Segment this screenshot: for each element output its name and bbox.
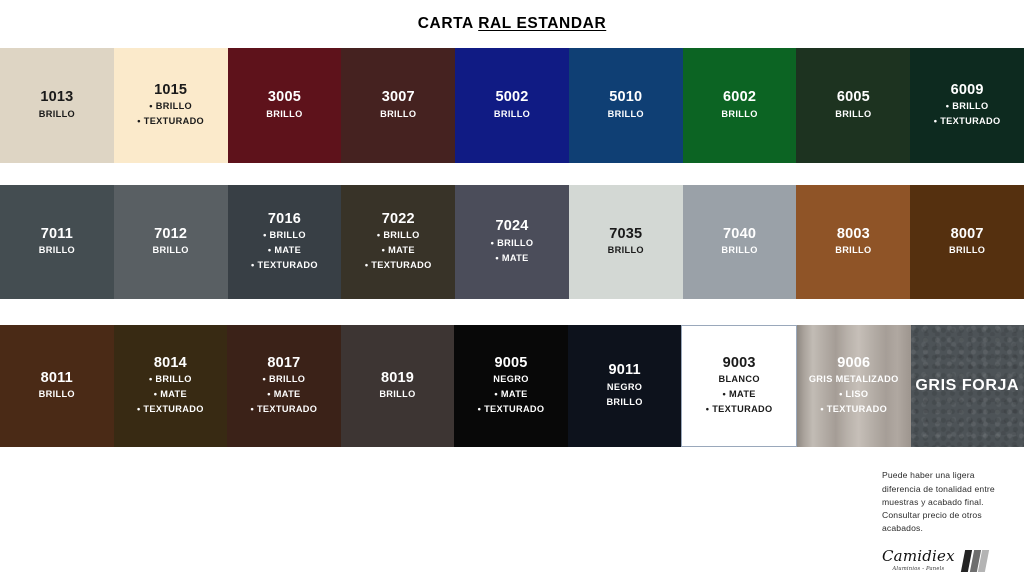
page-title: CARTA RAL ESTANDAR: [418, 15, 606, 33]
logo-tagline: Aluminios - Panels: [892, 567, 944, 572]
swatch-content: 1015• BRILLO• TEXTURADO: [114, 82, 228, 130]
color-swatch-7016[interactable]: 7016• BRILLO• MATE• TEXTURADO: [228, 185, 342, 299]
swatch-finish: • MATE: [723, 387, 756, 402]
swatch-code: 6002: [723, 89, 756, 107]
swatch-finish: GRIS METALIZADO: [809, 372, 899, 387]
swatch-finish: • BRILLO: [946, 99, 989, 114]
swatch-content: 7035BRILLO: [569, 226, 683, 259]
swatch-content: 8017• BRILLO• MATE• TEXTURADO: [227, 355, 341, 417]
swatch-finish: BRILLO: [153, 243, 189, 258]
swatch-content: 6002BRILLO: [683, 89, 797, 122]
swatch-finish: • BRILLO: [263, 372, 306, 387]
page-title-prefix: CARTA: [418, 15, 478, 32]
swatch-content: 5010BRILLO: [569, 89, 683, 122]
swatch-code: 5002: [495, 89, 528, 107]
swatch-content: 5002BRILLO: [455, 89, 569, 122]
color-swatch-grid: 1013BRILLO1015• BRILLO• TEXTURADO3005BRI…: [0, 48, 1024, 447]
swatch-content: 9011NEGROBRILLO: [568, 362, 682, 410]
color-swatch-9011[interactable]: 9011NEGROBRILLO: [568, 325, 682, 447]
swatch-content: 8003BRILLO: [796, 226, 910, 259]
page-title-underlined: RAL ESTANDAR: [478, 15, 606, 32]
swatch-code: 5010: [609, 89, 642, 107]
swatch-content: 9006GRIS METALIZADO• LISO• TEXTURADO: [797, 355, 911, 417]
swatch-content: 8019BRILLO: [341, 370, 455, 403]
swatch-content: 7011BRILLO: [0, 226, 114, 259]
swatch-label: GRIS FORJA: [915, 377, 1019, 395]
logo-bars-icon: [961, 550, 989, 572]
swatch-finish: • TEXTURADO: [365, 258, 432, 273]
color-swatch-8003[interactable]: 8003BRILLO: [796, 185, 910, 299]
swatch-content: 9003BLANCO• MATE• TEXTURADO: [682, 355, 796, 417]
swatch-finish: • TEXTURADO: [137, 402, 204, 417]
swatch-code: 3005: [268, 89, 301, 107]
swatch-finish: BLANCO: [718, 372, 759, 387]
swatch-code: 8017: [267, 355, 300, 373]
swatch-finish: BRILLO: [39, 387, 75, 402]
swatch-finish: • BRILLO: [263, 228, 306, 243]
swatch-finish: • LISO: [839, 387, 868, 402]
color-swatch-5010[interactable]: 5010BRILLO: [569, 48, 683, 163]
swatch-code: 7012: [154, 226, 187, 244]
color-swatch-8017[interactable]: 8017• BRILLO• MATE• TEXTURADO: [227, 325, 341, 447]
swatch-code: 1015: [154, 82, 187, 100]
swatch-code: 7011: [41, 226, 73, 244]
swatch-finish: • MATE: [494, 387, 527, 402]
swatch-code: 8014: [154, 355, 187, 373]
swatch-finish: • MATE: [268, 243, 301, 258]
swatch-finish: • BRILLO: [491, 236, 534, 251]
swatch-finish: • TEXTURADO: [820, 402, 887, 417]
swatch-content: 8014• BRILLO• MATE• TEXTURADO: [114, 355, 228, 417]
color-swatch-5002[interactable]: 5002BRILLO: [455, 48, 569, 163]
swatch-finish: • MATE: [495, 251, 528, 266]
swatch-content: 8011BRILLO: [0, 370, 114, 403]
color-swatch-7022[interactable]: 7022• BRILLO• MATE• TEXTURADO: [341, 185, 455, 299]
swatch-finish: BRILLO: [606, 395, 642, 410]
color-swatch-7012[interactable]: 7012BRILLO: [114, 185, 228, 299]
color-swatch-6005[interactable]: 6005BRILLO: [796, 48, 910, 163]
swatch-code: 8019: [381, 370, 414, 388]
swatch-content: 7012BRILLO: [114, 226, 228, 259]
swatch-code: 3007: [382, 89, 415, 107]
color-swatch-7024[interactable]: 7024• BRILLO• MATE: [455, 185, 569, 299]
swatch-content: 7016• BRILLO• MATE• TEXTURADO: [228, 211, 342, 273]
swatch-finish: • BRILLO: [149, 99, 192, 114]
company-logo: Camidiex Aluminios - Panels: [882, 549, 1014, 572]
swatch-row: 1013BRILLO1015• BRILLO• TEXTURADO3005BRI…: [0, 48, 1024, 163]
swatch-finish: NEGRO: [493, 372, 528, 387]
swatch-code: 8011: [41, 370, 73, 388]
color-swatch-6009[interactable]: 6009• BRILLO• TEXTURADO: [910, 48, 1024, 163]
color-swatch-7011[interactable]: 7011BRILLO: [0, 185, 114, 299]
swatch-finish: • TEXTURADO: [251, 402, 318, 417]
swatch-code: 1013: [40, 89, 73, 107]
swatch-content: 3005BRILLO: [228, 89, 342, 122]
swatch-finish: • MATE: [382, 243, 415, 258]
swatch-finish: BRILLO: [39, 243, 75, 258]
swatch-code: 9011: [608, 362, 640, 380]
swatch-finish: BRILLO: [608, 243, 644, 258]
swatch-finish: BRILLO: [39, 107, 75, 122]
swatch-finish: BRILLO: [721, 243, 757, 258]
swatch-code: 9006: [837, 355, 870, 373]
swatch-finish: • TEXTURADO: [251, 258, 318, 273]
swatch-content: 7040BRILLO: [683, 226, 797, 259]
logo-name: Camidiex: [882, 549, 955, 564]
color-swatch-gris-forja[interactable]: GRIS FORJA: [911, 325, 1024, 447]
swatch-finish: BRILLO: [835, 243, 871, 258]
swatch-finish: • TEXTURADO: [137, 114, 204, 129]
color-swatch-7040[interactable]: 7040BRILLO: [683, 185, 797, 299]
swatch-finish: • MATE: [267, 387, 300, 402]
swatch-content: 7024• BRILLO• MATE: [455, 218, 569, 266]
swatch-content: 3007BRILLO: [341, 89, 455, 122]
color-swatch-8014[interactable]: 8014• BRILLO• MATE• TEXTURADO: [114, 325, 228, 447]
swatch-finish: BRILLO: [379, 387, 415, 402]
swatch-code: 9003: [723, 355, 756, 373]
swatch-code: 8003: [837, 226, 870, 244]
color-swatch-9006[interactable]: 9006GRIS METALIZADO• LISO• TEXTURADO: [797, 325, 911, 447]
swatch-code: 8007: [951, 226, 984, 244]
swatch-code: 7022: [382, 211, 415, 229]
color-swatch-9005[interactable]: 9005NEGRO• MATE• TEXTURADO: [454, 325, 568, 447]
swatch-finish: • TEXTURADO: [478, 402, 545, 417]
swatch-code: 7024: [495, 218, 528, 236]
swatch-finish: BRILLO: [494, 107, 530, 122]
page-title-bar: CARTA RAL ESTANDAR: [0, 0, 1024, 48]
swatch-finish: • BRILLO: [149, 372, 192, 387]
swatch-finish: BRILLO: [380, 107, 416, 122]
footer: Puede haber una ligera diferencia de ton…: [882, 469, 1014, 572]
color-swatch-8011[interactable]: 8011BRILLO: [0, 325, 114, 447]
swatch-code: 6009: [951, 82, 984, 100]
color-swatch-7035[interactable]: 7035BRILLO: [569, 185, 683, 299]
swatch-content: 6005BRILLO: [796, 89, 910, 122]
color-swatch-1013[interactable]: 1013BRILLO: [0, 48, 114, 163]
swatch-code: 9005: [495, 355, 528, 373]
swatch-finish: • BRILLO: [377, 228, 420, 243]
color-swatch-1015[interactable]: 1015• BRILLO• TEXTURADO: [114, 48, 228, 163]
swatch-content: 7022• BRILLO• MATE• TEXTURADO: [341, 211, 455, 273]
swatch-finish: • TEXTURADO: [706, 402, 773, 417]
swatch-code: 7016: [268, 211, 301, 229]
swatch-content: 1013BRILLO: [0, 89, 114, 122]
color-swatch-3007[interactable]: 3007BRILLO: [341, 48, 455, 163]
swatch-finish: • TEXTURADO: [934, 114, 1001, 129]
color-swatch-8019[interactable]: 8019BRILLO: [341, 325, 455, 447]
swatch-content: 8007BRILLO: [910, 226, 1024, 259]
swatch-row: 7011BRILLO7012BRILLO7016• BRILLO• MATE• …: [0, 185, 1024, 299]
swatch-finish: NEGRO: [607, 380, 642, 395]
swatch-code: 6005: [837, 89, 870, 107]
swatch-row: 8011BRILLO8014• BRILLO• MATE• TEXTURADO8…: [0, 325, 1024, 447]
color-swatch-6002[interactable]: 6002BRILLO: [683, 48, 797, 163]
swatch-finish: BRILLO: [266, 107, 302, 122]
swatch-code: 7035: [609, 226, 642, 244]
swatch-code: 7040: [723, 226, 756, 244]
swatch-finish: BRILLO: [949, 243, 985, 258]
color-swatch-3005[interactable]: 3005BRILLO: [228, 48, 342, 163]
swatch-finish: BRILLO: [608, 107, 644, 122]
color-swatch-8007[interactable]: 8007BRILLO: [910, 185, 1024, 299]
swatch-finish: BRILLO: [835, 107, 871, 122]
logo-text: Camidiex Aluminios - Panels: [882, 549, 955, 572]
swatch-content: 9005NEGRO• MATE• TEXTURADO: [454, 355, 568, 417]
swatch-finish: • MATE: [154, 387, 187, 402]
swatch-content: GRIS FORJA: [911, 377, 1024, 395]
swatch-finish: BRILLO: [721, 107, 757, 122]
swatch-content: 6009• BRILLO• TEXTURADO: [910, 82, 1024, 130]
color-swatch-9003[interactable]: 9003BLANCO• MATE• TEXTURADO: [681, 325, 797, 447]
disclaimer-text: Puede haber una ligera diferencia de ton…: [882, 469, 1014, 534]
